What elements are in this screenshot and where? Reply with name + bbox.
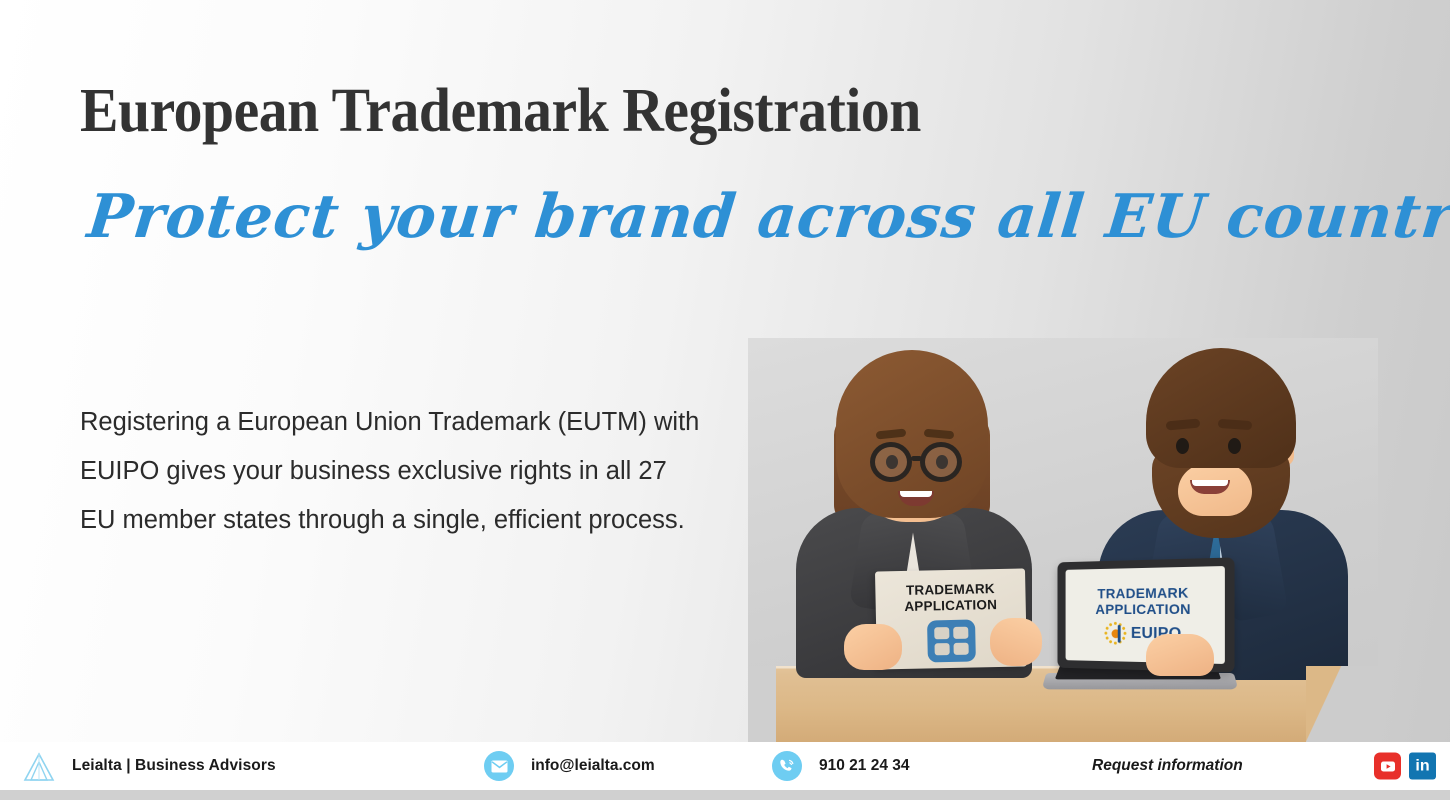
footer-email[interactable]: info@leialta.com [484,751,655,781]
footer-phone-text: 910 21 24 34 [819,757,910,775]
four-squares-icon [927,619,976,662]
footer-social-links: in [1374,753,1436,780]
leialta-triangle-logo [22,751,56,783]
envelope-icon [484,751,514,781]
paper-line-2: APPLICATION [876,596,1026,614]
illustration: TRADEMARK APPLICATION TRADEMARK APPLICAT… [748,338,1378,742]
man-hand [1146,634,1214,676]
request-information-link[interactable]: Request information [1092,757,1243,775]
footer-brand: Leialta | Business Advisors [72,757,276,775]
paper-line-1: TRADEMARK [875,580,1025,598]
woman-glasses-right [920,442,962,482]
slide-canvas: European Trademark Registration Protect … [0,0,1450,800]
footer-email-text: info@leialta.com [531,757,655,775]
footer-phone[interactable]: 910 21 24 34 [772,751,910,781]
desk-edge-right [1306,666,1378,742]
euipo-stars-icon [1104,621,1127,645]
body-paragraph: Registering a European Union Trademark (… [80,398,700,545]
woman-hand-left [844,624,902,670]
page-subtitle: Protect your brand across all EU countri… [84,182,1450,252]
screen-line-1: TRADEMARK [1097,584,1188,601]
woman-glasses-left [870,442,912,482]
desk-edge-left [748,666,776,742]
youtube-icon[interactable] [1374,753,1401,780]
screen-line-2: APPLICATION [1095,600,1190,616]
woman-hand-right [990,618,1042,666]
man-eye-left [1176,438,1189,454]
linkedin-icon[interactable]: in [1409,753,1436,780]
man-eye-right [1228,438,1241,454]
phone-icon [772,751,802,781]
page-title: European Trademark Registration [80,76,921,147]
laptop: TRADEMARK APPLICATION [1044,560,1236,698]
footer: Leialta | Business Advisors info@leialta… [0,742,1450,800]
footer-bar: Leialta | Business Advisors info@leialta… [0,742,1450,790]
woman-glasses-bridge [911,456,922,461]
